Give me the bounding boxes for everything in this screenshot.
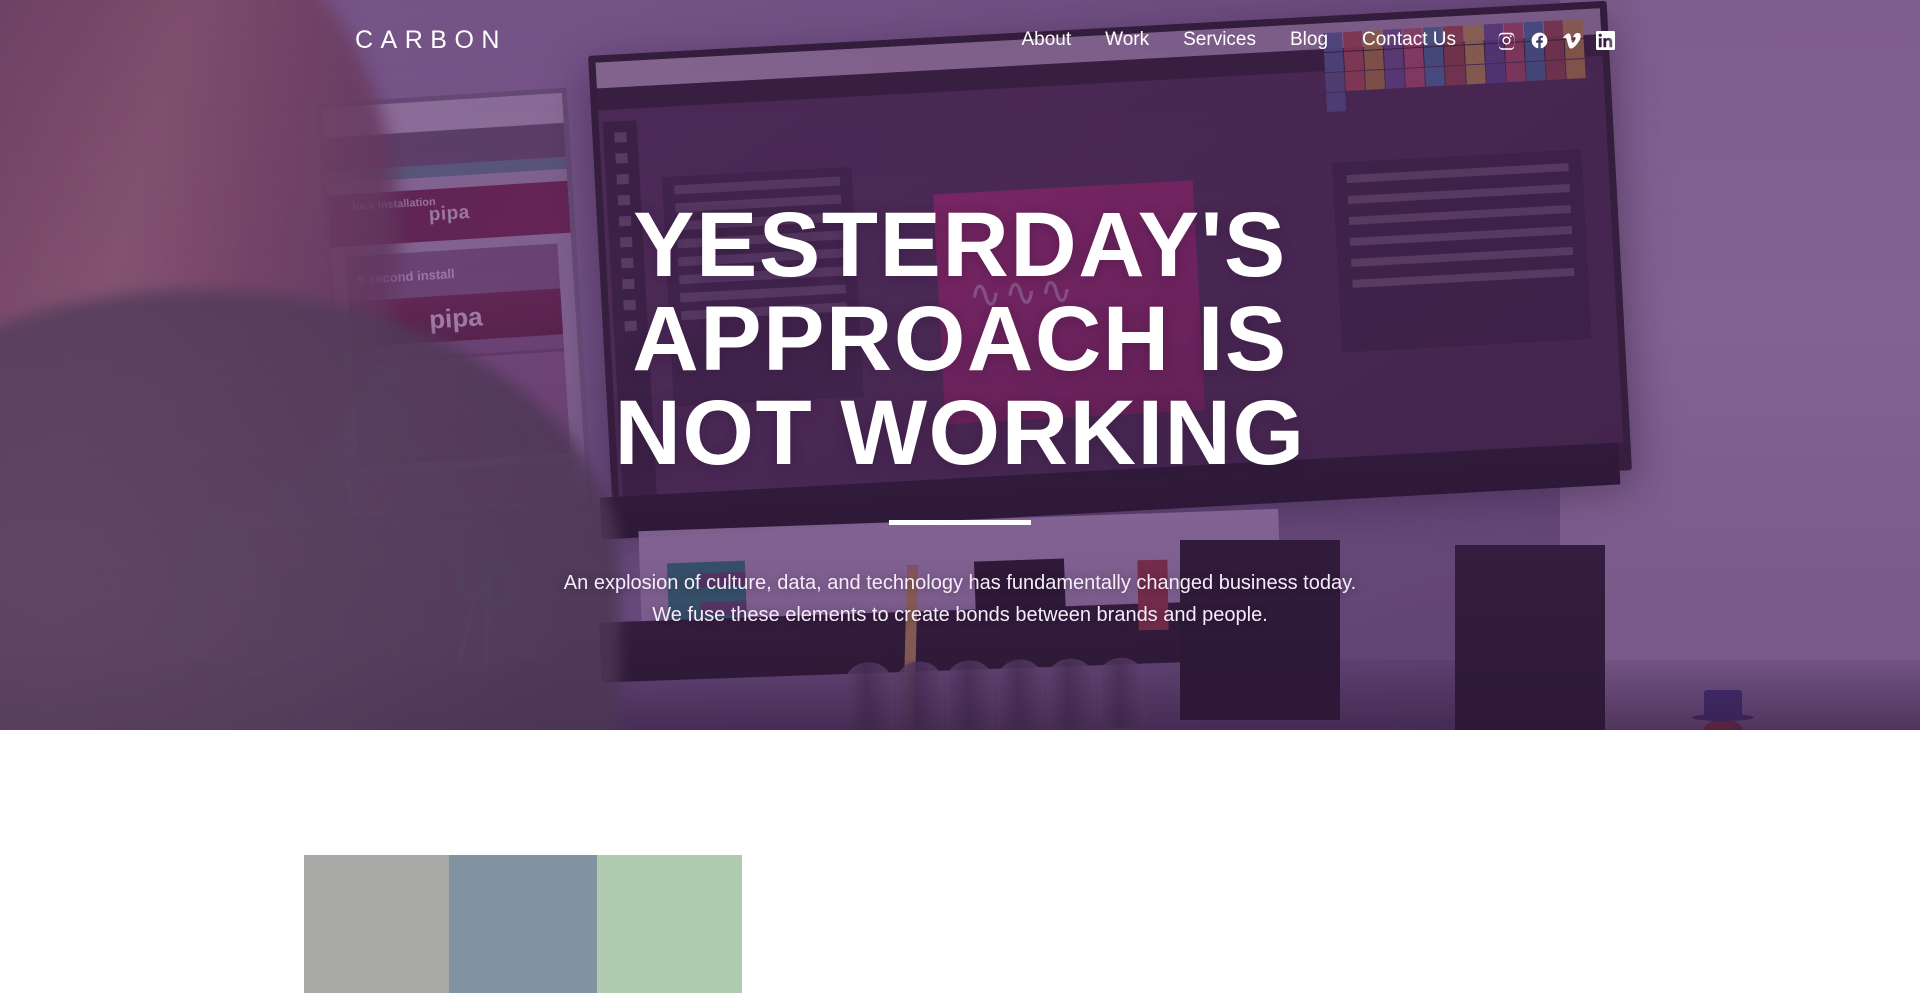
site-logo[interactable]: CARBON [355, 26, 507, 55]
purple-overlay-tint [0, 0, 1920, 730]
nav-link-blog[interactable]: Blog [1273, 23, 1345, 57]
nav-link-work[interactable]: Work [1088, 23, 1166, 57]
linkedin-icon[interactable] [1596, 31, 1615, 50]
social-links [1497, 31, 1615, 50]
nav-link-services[interactable]: Services [1166, 23, 1273, 57]
main-navigation: CARBON About Work Services Blog Contact … [0, 0, 1920, 80]
nav-right-group: About Work Services Blog Contact Us [1004, 23, 1615, 57]
nav-link-about[interactable]: About [1004, 23, 1088, 57]
swatch-green [597, 855, 742, 993]
facebook-icon[interactable] [1530, 31, 1549, 50]
hero-section: pipa lock installation 5 second install … [0, 0, 1920, 730]
below-hero-section [0, 730, 1920, 993]
vimeo-icon[interactable] [1563, 31, 1582, 50]
swatch-gray [304, 855, 449, 993]
hero-background-photo: pipa lock installation 5 second install … [0, 0, 1920, 730]
color-swatch-row [304, 855, 742, 993]
nav-link-contact-us[interactable]: Contact Us [1345, 23, 1473, 57]
swatch-blue-gray [449, 855, 597, 993]
instagram-icon[interactable] [1497, 31, 1516, 50]
